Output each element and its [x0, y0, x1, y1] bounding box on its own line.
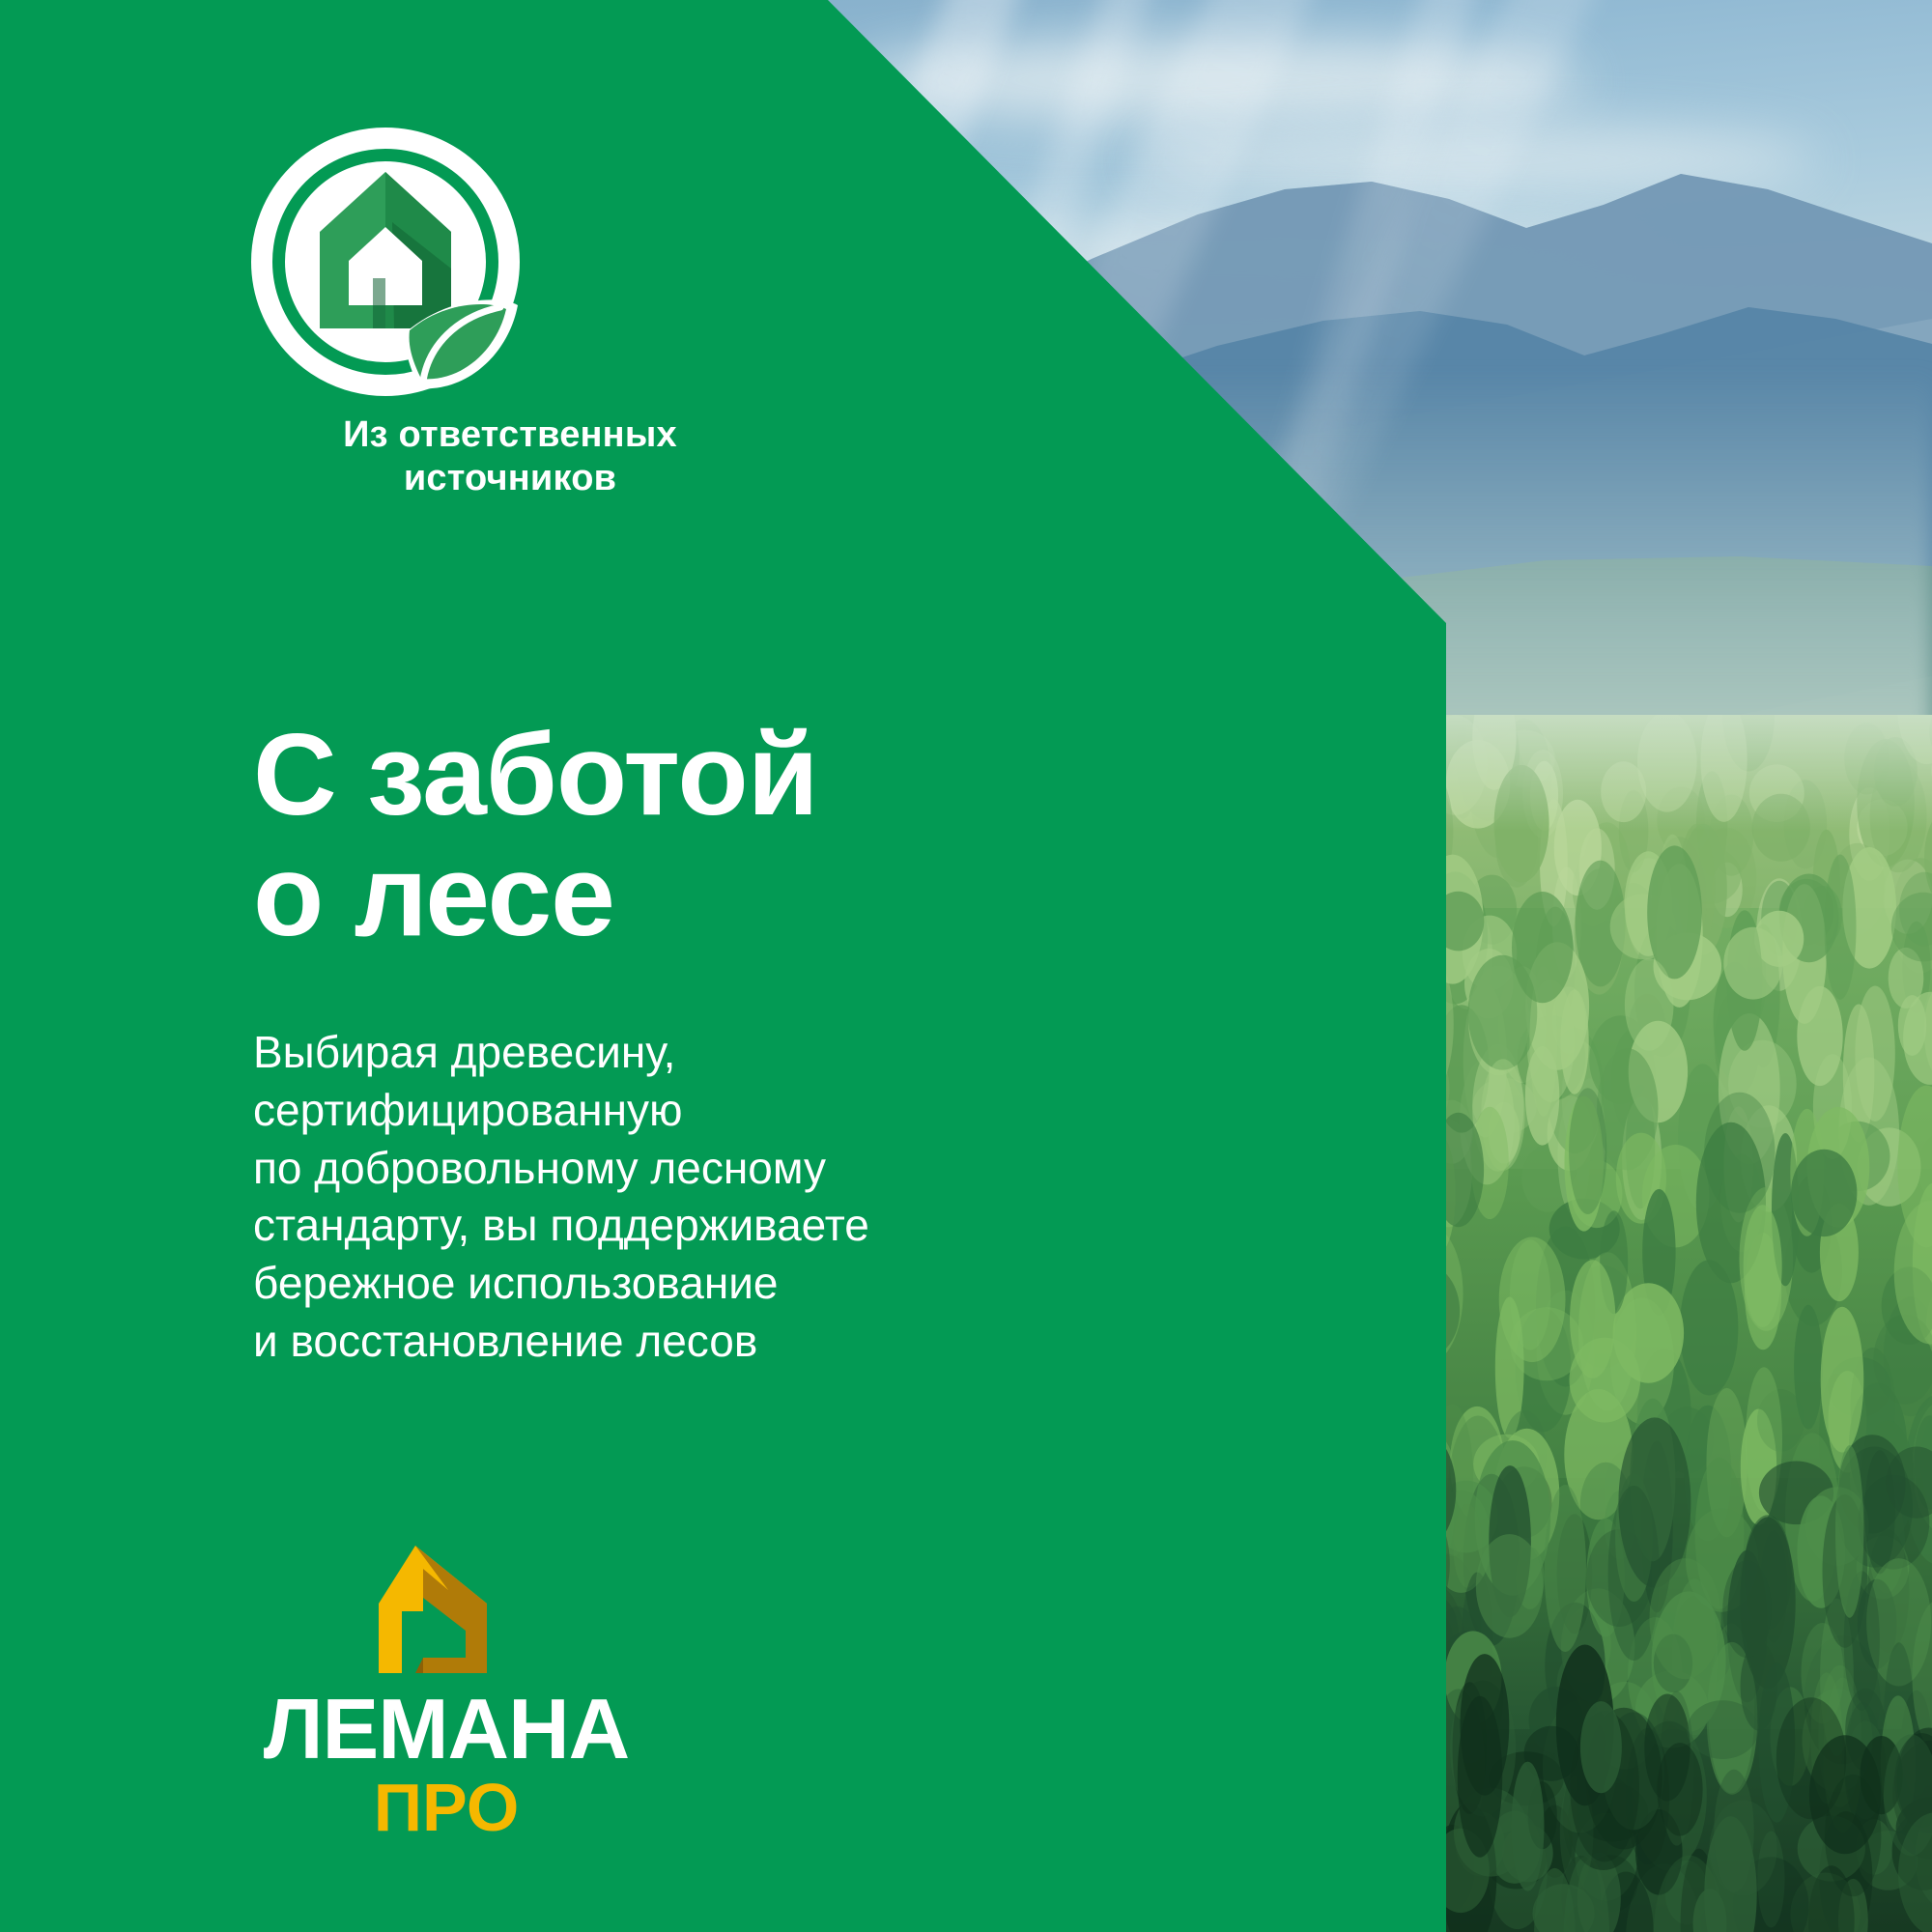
poster: Из ответственных источников С заботой о …	[0, 0, 1932, 1932]
body-line6: и восстановление лесов	[253, 1313, 1084, 1371]
lemana-pro-house-logo	[340, 1544, 491, 1675]
brand-subname: ПРО	[243, 1776, 649, 1840]
eco-caption-line1: Из ответственных	[343, 414, 677, 455]
body-line3: по добровольному лесному	[253, 1140, 1084, 1198]
responsible-sources-eco-badge	[249, 126, 522, 398]
headline-line1: С заботой	[253, 715, 1122, 836]
body-line4: стандарту, вы поддерживаете	[253, 1197, 1084, 1255]
body-line5: бережное использование	[253, 1255, 1084, 1313]
brand-logo: ЛЕМАНА ПРО	[243, 1544, 649, 1853]
eco-caption-line2: источников	[249, 457, 771, 500]
body-copy: Выбирая древесину, сертифицированную по …	[253, 1024, 1084, 1371]
eco-badge-caption: Из ответственных источников	[249, 413, 771, 500]
headline-line2: о лесе	[253, 836, 1122, 956]
page-title: С заботой о лесе	[253, 715, 1122, 956]
body-line2: сертифицированную	[253, 1082, 1084, 1140]
body-line1: Выбирая древесину,	[253, 1024, 1084, 1082]
brand-name: ЛЕМАНА	[243, 1689, 649, 1770]
